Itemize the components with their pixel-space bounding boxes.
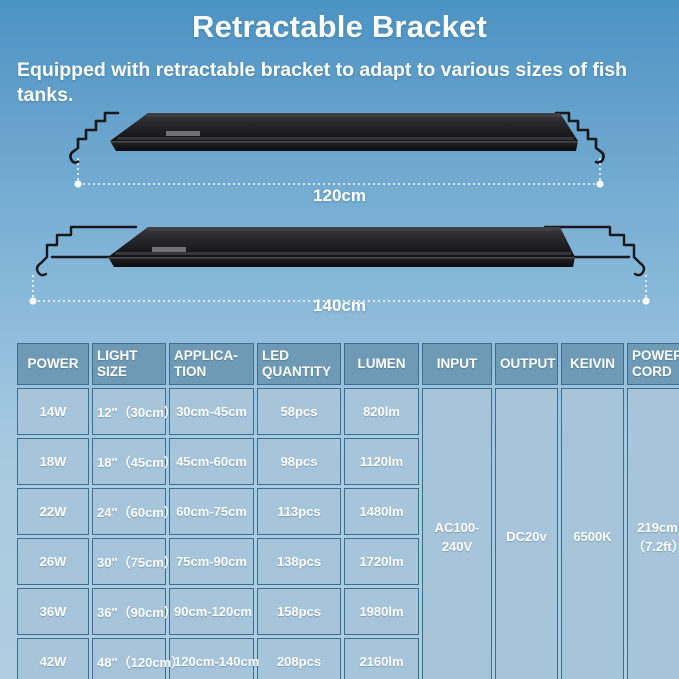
table-header-row: POWER LIGHT SIZE APPLICA- TION LED QUANT… (17, 343, 679, 385)
cell-lumen: 1720lm (344, 538, 419, 585)
column-header-output: OUTPUT (495, 343, 558, 385)
cell-power-cord-line2: （7.2ft） (632, 539, 679, 554)
column-header-input: INPUT (422, 343, 492, 385)
cell-input-merged: AC100-240V (422, 388, 492, 679)
cell-led-quantity: 158pcs (257, 588, 341, 635)
column-header-light-size: LIGHT SIZE (92, 343, 166, 385)
column-header-lumen: LUMEN (344, 343, 419, 385)
page-title: Retractable Bracket (0, 9, 679, 45)
cell-power: 22W (17, 488, 89, 535)
cell-lumen: 1480lm (344, 488, 419, 535)
cell-power: 36W (17, 588, 89, 635)
cell-application: 30cm-45cm (169, 388, 254, 435)
column-header-light-size-line1: LIGHT (97, 348, 138, 363)
cell-lumen: 2160lm (344, 638, 419, 679)
table-body: 14W 12"（30cm） 30cm-45cm 58pcs 820lm AC10… (17, 388, 679, 679)
brand-logo (166, 131, 200, 136)
cell-output-merged: DC20v (495, 388, 558, 679)
spec-table: POWER LIGHT SIZE APPLICA- TION LED QUANT… (14, 340, 679, 679)
brand-logo-extended (152, 247, 186, 252)
cell-power-cord-merged: 219cm （7.2ft） (627, 388, 679, 679)
cell-application: 75cm-90cm (169, 538, 254, 585)
cell-application: 90cm-120cm (169, 588, 254, 635)
column-header-power-cord-line1: POWER (632, 348, 679, 363)
cell-led-quantity: 113pcs (257, 488, 341, 535)
cell-light-size: 18"（45cm） (92, 438, 166, 485)
cell-lumen: 1120lm (344, 438, 419, 485)
bracket-leg-left (70, 113, 118, 163)
dimension-label-120cm: 120cm (0, 186, 679, 206)
cell-keivin-merged: 6500K (561, 388, 624, 679)
column-header-light-size-line2: SIZE (97, 364, 127, 379)
cell-power: 26W (17, 538, 89, 585)
spec-table-wrapper: POWER LIGHT SIZE APPLICA- TION LED QUANT… (14, 340, 665, 679)
column-header-led-quantity: LED QUANTITY (257, 343, 341, 385)
cell-light-size: 12"（30cm） (92, 388, 166, 435)
cell-lumen: 820lm (344, 388, 419, 435)
dimension-label-140cm: 140cm (0, 296, 679, 316)
column-header-keivin: KEIVIN (561, 343, 624, 385)
cell-led-quantity: 98pcs (257, 438, 341, 485)
product-infographic: Retractable Bracket Equipped with retrac… (0, 0, 679, 679)
column-header-power-cord: POWER CORD (627, 343, 679, 385)
dimension-guide-120cm (78, 158, 600, 184)
cell-application: 120cm-140cm (169, 638, 254, 679)
cell-lumen: 1980lm (344, 588, 419, 635)
column-header-power-cord-line2: CORD (632, 364, 672, 379)
cell-power-cord-line1: 219cm (637, 520, 677, 535)
column-header-application-line1: APPLICA- (174, 348, 238, 363)
column-header-application: APPLICA- TION (169, 343, 254, 385)
cell-power: 14W (17, 388, 89, 435)
cell-led-quantity: 138pcs (257, 538, 341, 585)
cell-light-size: 24"（60cm） (92, 488, 166, 535)
cell-led-quantity: 58pcs (257, 388, 341, 435)
column-header-led-quantity-line2: QUANTITY (262, 364, 331, 379)
cell-application: 45cm-60cm (169, 438, 254, 485)
cell-light-size: 30"（75cm） (92, 538, 166, 585)
cell-power: 18W (17, 438, 89, 485)
cell-led-quantity: 208pcs (257, 638, 341, 679)
cell-light-size: 36"（90cm） (92, 588, 166, 635)
table-row: 14W 12"（30cm） 30cm-45cm 58pcs 820lm AC10… (17, 388, 679, 435)
column-header-power: POWER (17, 343, 89, 385)
cell-application: 60cm-75cm (169, 488, 254, 535)
cell-light-size: 48"（120cm） (92, 638, 166, 679)
column-header-application-line2: TION (174, 364, 206, 379)
column-header-led-quantity-line1: LED (262, 348, 289, 363)
cell-power: 42W (17, 638, 89, 679)
